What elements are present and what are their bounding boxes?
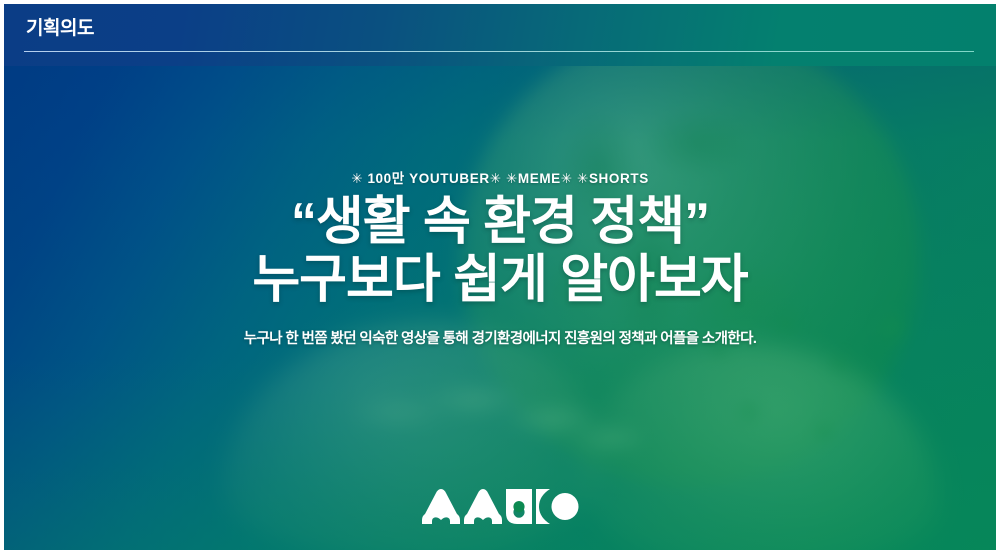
hero-headline-line2: 누구보다 쉽게 알아보자	[252, 252, 747, 308]
slide-header: 기획의도	[4, 4, 996, 66]
hero-headline-line1: “생활 속 환경 정책”	[291, 193, 709, 251]
header-divider	[24, 51, 974, 52]
aaoco-logo-icon	[420, 480, 580, 528]
hero-subcopy: 누구나 한 번쯤 봤던 익숙한 영상을 통해 경기환경에너지 진흥원의 정책과 …	[244, 327, 757, 348]
hero-eyebrow: ✳ 100만 YOUTUBER✳ ✳MEME✳ ✳SHORTS	[351, 167, 649, 187]
slide-root: 기획의도 ✳ 100만 YOUTUBER✳ ✳MEME✳ ✳SHORTS “생활…	[0, 0, 1000, 554]
aaoco-logo	[420, 480, 580, 528]
hero-headline: “생활 속 환경 정책” 누구보다 쉽게 알아보자	[252, 194, 747, 308]
page-title: 기획의도	[26, 13, 94, 40]
